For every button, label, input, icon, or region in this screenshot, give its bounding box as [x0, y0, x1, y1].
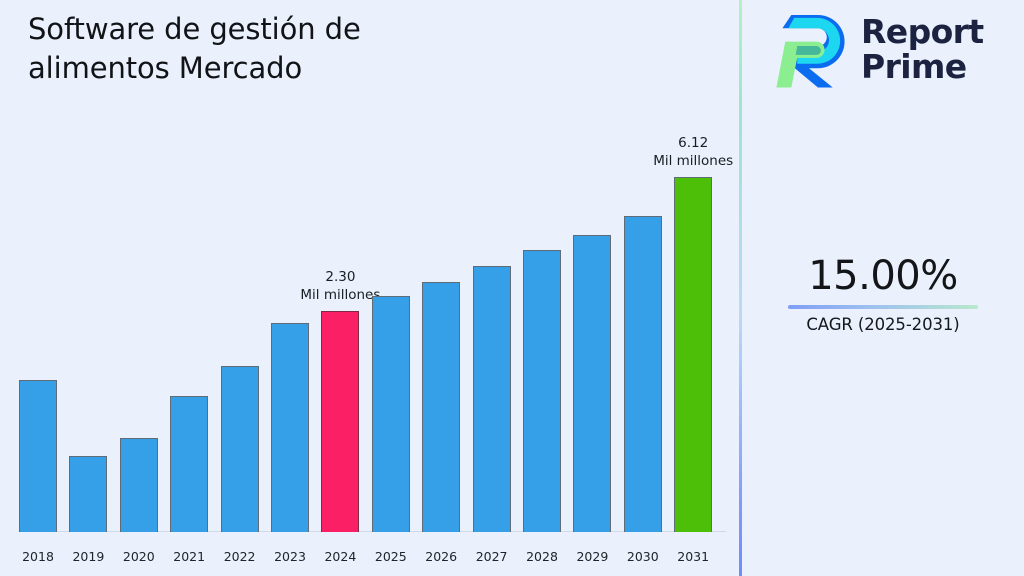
x-tick-label-2027: 2027 [473, 549, 511, 564]
bar-group-2029: 2029 [573, 42, 611, 532]
x-tick-label-2022: 2022 [221, 549, 259, 564]
side-panel: Report Prime 15.00% CAGR (2025-2031) [742, 0, 1024, 576]
report-prime-logo-mark [775, 10, 849, 88]
bar-group-2031: 6.12Mil millones2031 [674, 42, 712, 532]
bar-group-2021: 2021 [170, 42, 208, 532]
x-tick-label-2023: 2023 [271, 549, 309, 564]
bar-2030[interactable] [624, 216, 662, 532]
bar-2020[interactable] [120, 438, 158, 532]
x-tick-label-2030: 2030 [624, 549, 662, 564]
bar-2025[interactable] [372, 296, 410, 532]
cagr-block: 15.00% CAGR (2025-2031) [742, 255, 1024, 334]
x-tick-label-2021: 2021 [170, 549, 208, 564]
logo-line-2: Prime [861, 49, 984, 84]
bar-2027[interactable] [473, 266, 511, 532]
cagr-value: 15.00% [742, 255, 1024, 297]
bar-group-2019: 2019 [69, 42, 107, 532]
bar-group-2026: 2026 [422, 42, 460, 532]
bar-2031[interactable] [674, 177, 712, 532]
cagr-divider-rule [788, 305, 978, 309]
infographic-root: Software de gestión de alimentos Mercado… [0, 0, 1024, 576]
bar-2028[interactable] [523, 250, 561, 532]
bar-group-2020: 2020 [120, 42, 158, 532]
x-tick-label-2026: 2026 [422, 549, 460, 564]
bar-group-2027: 2027 [473, 42, 511, 532]
bar-group-2018: 2018 [19, 42, 57, 532]
x-tick-label-2028: 2028 [523, 549, 561, 564]
bar-group-2022: 2022 [221, 42, 259, 532]
x-tick-label-2025: 2025 [372, 549, 410, 564]
x-tick-label-2018: 2018 [19, 549, 57, 564]
bar-group-2028: 2028 [523, 42, 561, 532]
bar-2018[interactable] [19, 380, 57, 532]
report-prime-wordmark: Report Prime [861, 14, 984, 85]
x-tick-label-2029: 2029 [573, 549, 611, 564]
bar-2019[interactable] [69, 456, 107, 532]
bar-group-2025: 2025 [372, 42, 410, 532]
bar-2026[interactable] [422, 282, 460, 532]
bar-group-2024: 2.30Mil millones2024 [321, 42, 359, 532]
bar-chart-plot: 2018201920202021202220232.30Mil millones… [0, 0, 740, 576]
x-tick-label-2019: 2019 [69, 549, 107, 564]
bar-2023[interactable] [271, 323, 309, 532]
bar-2022[interactable] [221, 366, 259, 532]
report-prime-logo: Report Prime [775, 10, 984, 88]
bar-2024[interactable] [321, 311, 359, 532]
cagr-caption: CAGR (2025-2031) [742, 315, 1024, 334]
x-tick-label-2031: 2031 [674, 549, 712, 564]
bar-group-2030: 2030 [624, 42, 662, 532]
bar-2021[interactable] [170, 396, 208, 532]
x-tick-label-2020: 2020 [120, 549, 158, 564]
chart-panel: Software de gestión de alimentos Mercado… [0, 0, 740, 576]
logo-line-1: Report [861, 14, 984, 49]
bar-2029[interactable] [573, 235, 611, 532]
x-tick-label-2024: 2024 [321, 549, 359, 564]
